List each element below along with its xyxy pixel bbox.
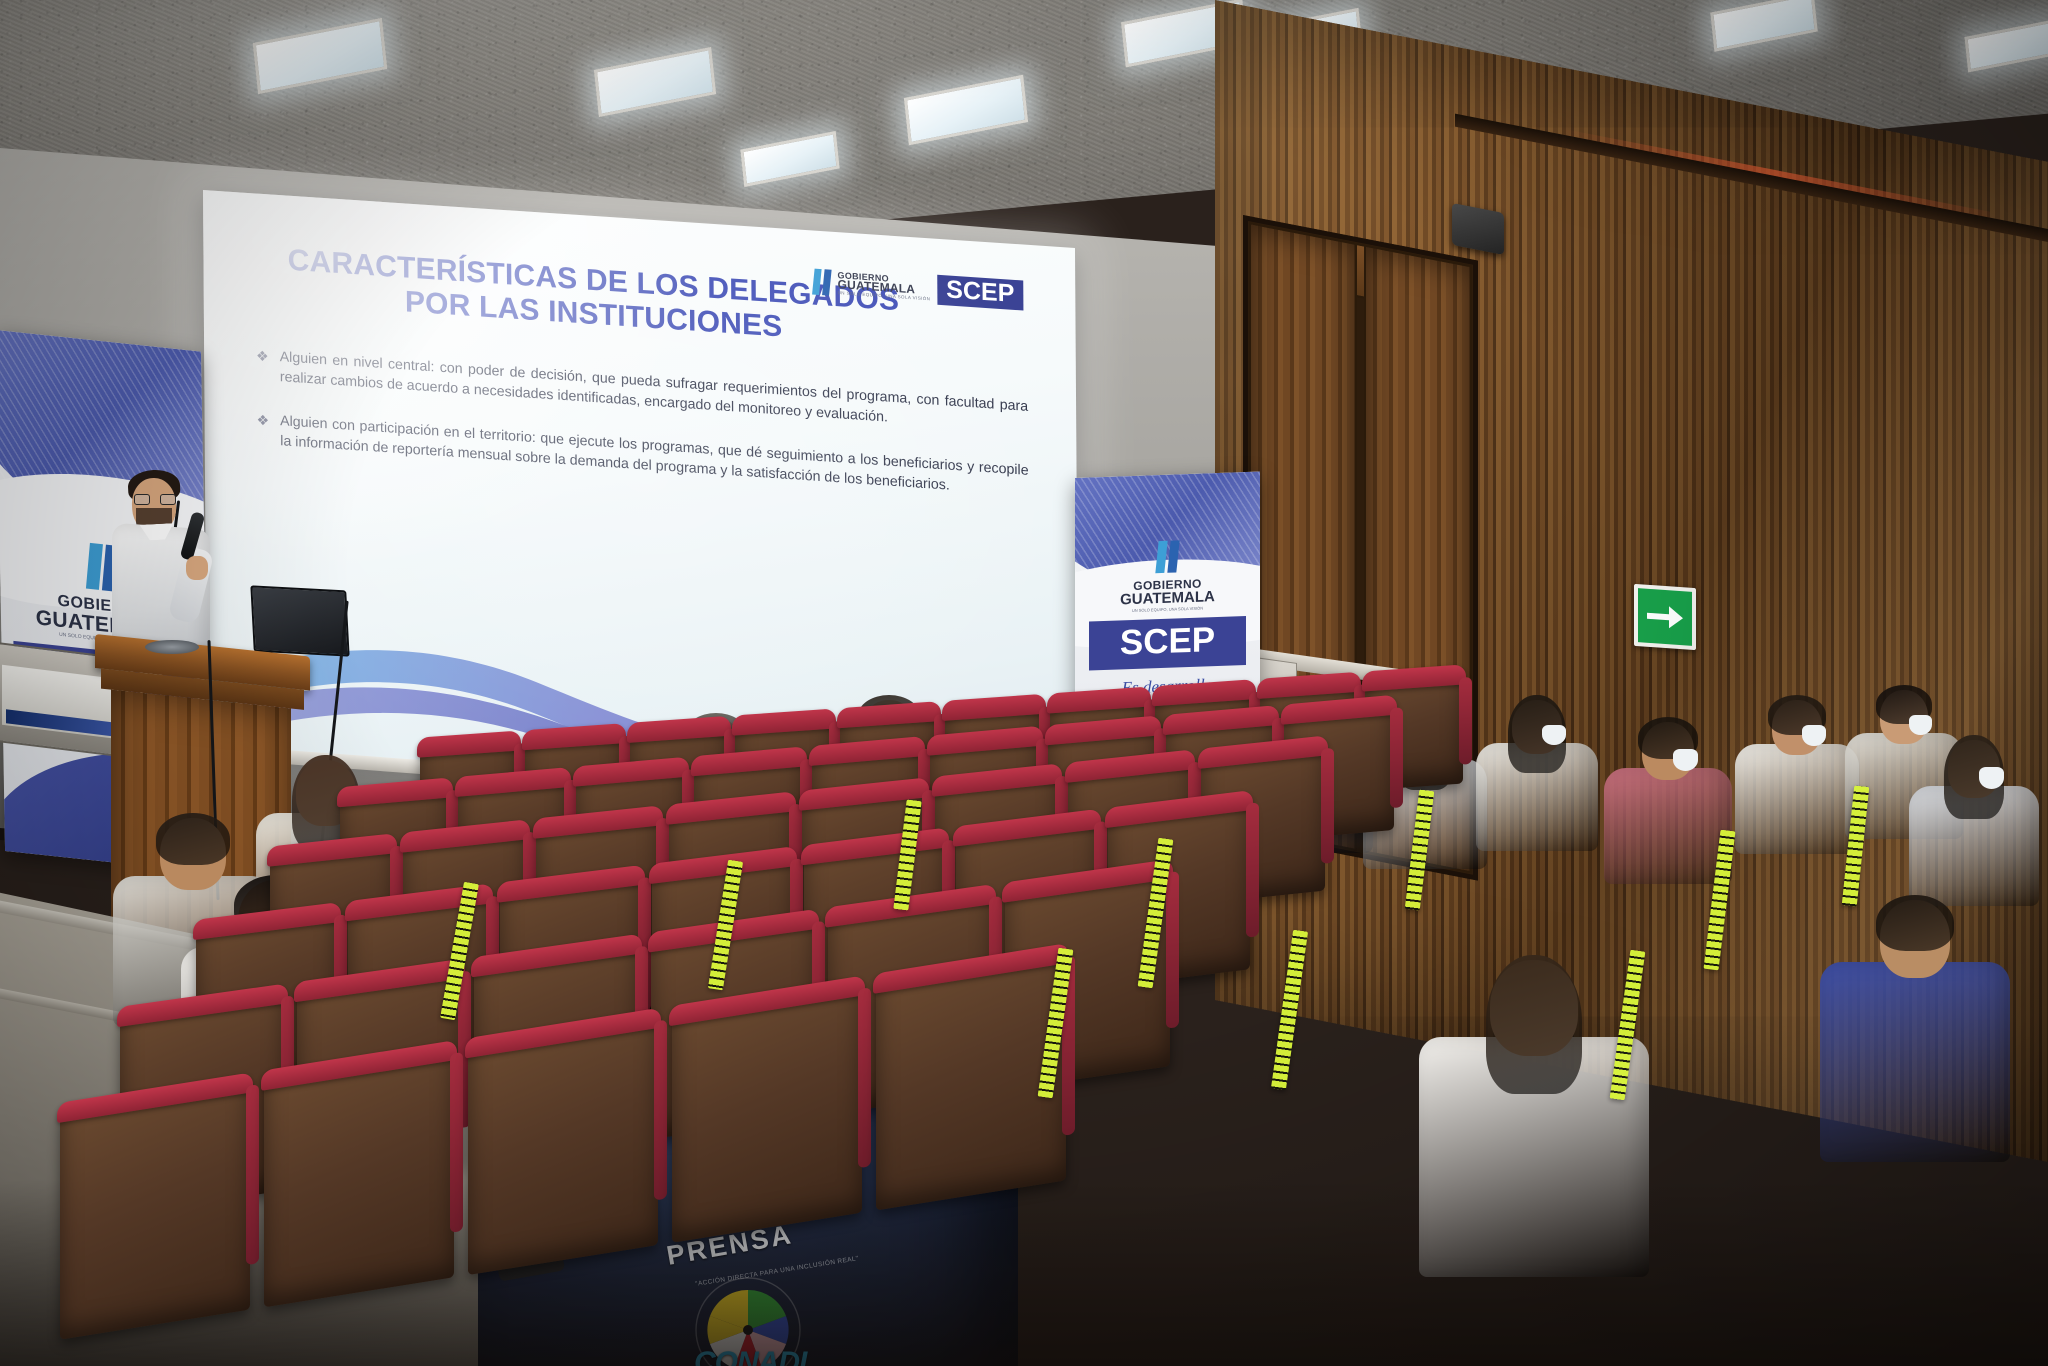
auditorium-scene: CARACTERÍSTICAS DE LOS DELEGADOS POR LAS… — [0, 0, 2048, 1366]
seat-back — [264, 1047, 454, 1307]
slide-title: CARACTERÍSTICAS DE LOS DELEGADOS POR LAS… — [273, 243, 913, 354]
guatemala-flag-bars-icon — [813, 269, 830, 296]
attendee-hair — [1486, 955, 1582, 1094]
face-mask — [1979, 767, 2004, 789]
attendee-torso — [1820, 962, 2010, 1162]
seat-armrest — [654, 1020, 667, 1201]
seat-armrest — [1246, 802, 1259, 938]
seat-back — [468, 1015, 658, 1275]
banner-right-scep-badge: SCEP — [1089, 616, 1246, 670]
gobierno-wordmark: GOBIERNO GUATEMALA UN SOLO EQUIPO, UNA S… — [837, 271, 930, 302]
seat-armrest — [246, 1084, 259, 1265]
seat-armrest — [1390, 707, 1403, 808]
auditorium-seat[interactable] — [264, 1047, 454, 1307]
attendee-hair — [156, 813, 230, 865]
seat-back — [60, 1080, 250, 1340]
microphone-base — [145, 640, 199, 654]
face-mask — [1673, 749, 1698, 771]
scep-badge: SCEP — [937, 275, 1023, 311]
speaker-glasses-icon — [134, 494, 176, 505]
auditorium-seat[interactable] — [672, 983, 862, 1243]
seat-armrest — [450, 1052, 463, 1233]
laptop-screen — [250, 585, 349, 656]
seat-back — [672, 983, 862, 1243]
emergency-exit-arrow-sign — [1634, 584, 1696, 650]
seat-armrest — [1166, 871, 1179, 1029]
auditorium-seat[interactable] — [876, 950, 1066, 1210]
attendee-torso — [1735, 744, 1859, 854]
bullet-marker-icon: ❖ — [257, 410, 270, 451]
speaker-hand — [186, 556, 208, 580]
banner-right-gobierno-wordmark: GOBIERNO GUATEMALA UN SOLO EQUIPO, UNA S… — [1075, 575, 1260, 614]
auditorium-seat[interactable] — [468, 1015, 658, 1275]
banner-right-flag-bars-icon — [1075, 537, 1260, 575]
auditorium-seat[interactable] — [60, 1080, 250, 1340]
exit-arrow-icon — [1645, 601, 1685, 634]
slide-bullet-list: ❖Alguien en nivel central: con poder de … — [256, 346, 1029, 526]
bullet-marker-icon: ❖ — [256, 346, 269, 387]
seat-back — [876, 950, 1066, 1210]
seat-armrest — [858, 987, 871, 1168]
attendee-hair — [1876, 895, 1954, 951]
seat-armrest — [1459, 677, 1472, 765]
presenter-laptop[interactable] — [250, 585, 349, 656]
seat-armrest — [1321, 748, 1334, 865]
attendee-torso — [1604, 768, 1732, 884]
